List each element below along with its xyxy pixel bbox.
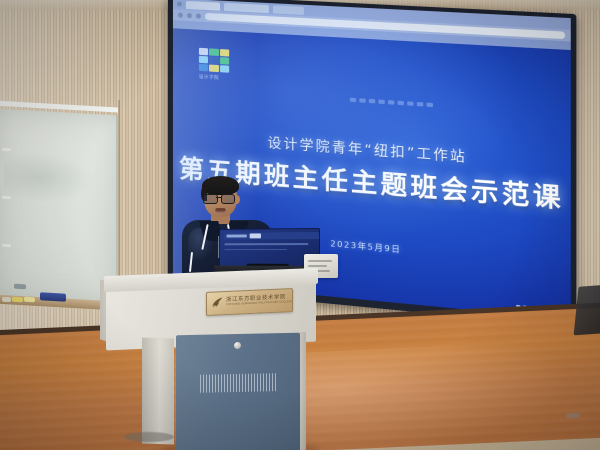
browser-tab[interactable] <box>273 5 304 15</box>
wall-light-glint <box>2 244 11 247</box>
screenshot-root: 设计学院 设计学院青年“纽扣”工作站 第五期班主任主题班会示范课 2023年5月… <box>0 0 600 450</box>
lectern-column <box>142 337 174 444</box>
laptop-window-titlebar[interactable] <box>224 232 319 239</box>
reload-icon[interactable] <box>196 13 201 18</box>
app-toolbar-row <box>350 98 554 115</box>
wall-light-glint <box>2 148 11 151</box>
back-icon[interactable] <box>178 13 183 18</box>
lectern[interactable]: 浙江东方职业技术学院 ZHEJIANG DONGFANG POLYTECHNIC… <box>100 272 322 450</box>
browser-tab[interactable] <box>224 2 269 12</box>
school-plaque: 浙江东方职业技术学院 ZHEJIANG DONGFANG POLYTECHNIC… <box>206 288 293 316</box>
bird-logo-icon <box>211 296 224 310</box>
cabinet-vent-slots <box>200 373 278 393</box>
logo-blocks-icon <box>199 48 229 73</box>
browser-tab[interactable] <box>186 0 220 10</box>
whiteboard-marker[interactable] <box>2 297 11 303</box>
laptop-window-title <box>226 234 246 237</box>
device-line <box>308 260 332 262</box>
laptop-content-line <box>225 249 287 250</box>
slide-logo-caption: 设计学院 <box>199 74 233 82</box>
wall-light-glint <box>2 196 11 199</box>
device-line <box>308 265 327 267</box>
presenter-mouth <box>215 208 226 213</box>
glasses-lens-left <box>203 194 218 204</box>
glasses-lens-right <box>221 194 235 204</box>
forward-icon[interactable] <box>187 13 192 18</box>
cabinet-lock-icon[interactable] <box>234 342 241 349</box>
lectern-cabinet-door[interactable] <box>176 333 300 450</box>
glasses-icon <box>203 194 237 203</box>
corner-furniture <box>574 285 600 336</box>
floor-mark <box>566 413 580 419</box>
whiteboard-marker[interactable] <box>24 297 35 303</box>
presenter-hair <box>202 176 239 195</box>
whiteboard-marker[interactable] <box>12 297 23 303</box>
browser-menu-icon[interactable] <box>177 1 182 6</box>
whiteboard-eraser[interactable] <box>40 292 66 301</box>
slide-logo: 设计学院 <box>199 48 233 82</box>
laptop-window-button[interactable] <box>250 233 261 238</box>
whiteboard-smudge <box>14 284 26 290</box>
laptop-content-line <box>225 243 309 245</box>
lectern-base-foot <box>124 432 174 442</box>
